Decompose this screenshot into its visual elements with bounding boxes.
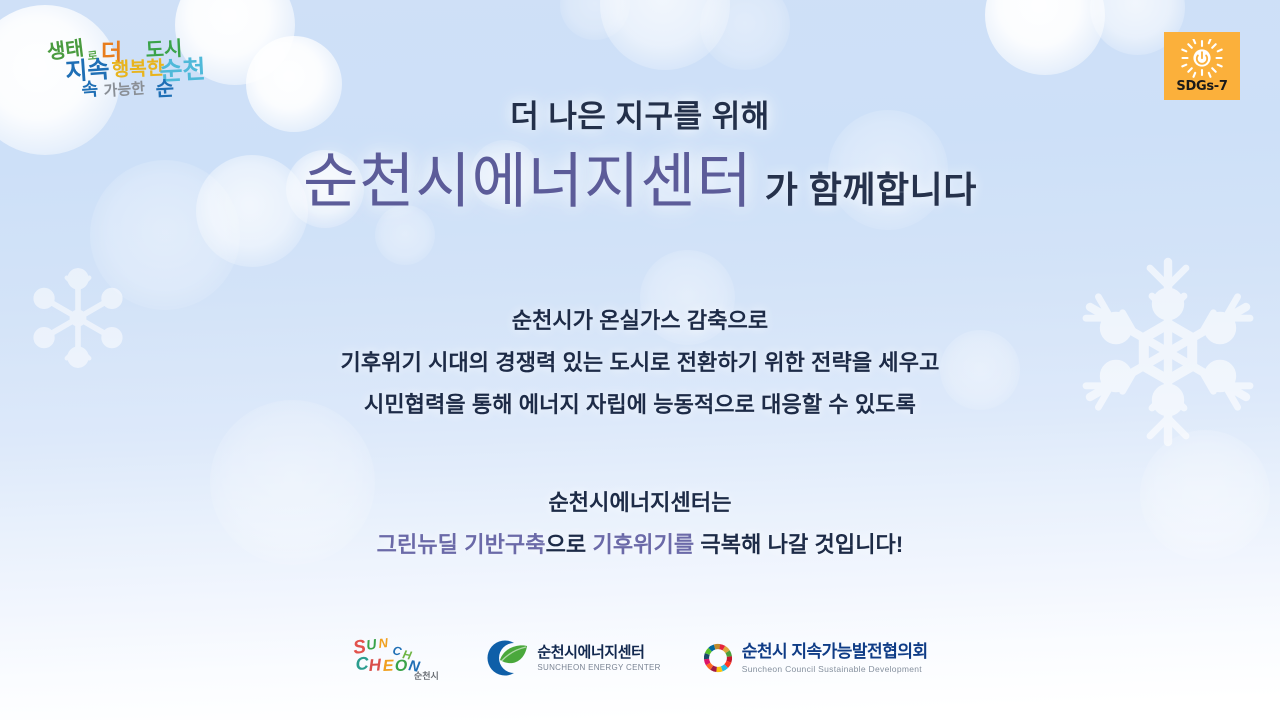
closing-accent-one: 그린뉴딜 기반구축 — [377, 532, 546, 557]
paragraph-two-line-1: 순천시에너지센터는 — [0, 482, 1280, 524]
svg-text:O: O — [395, 658, 409, 675]
closing-text-one: 으로 — [546, 532, 593, 557]
sdg-badge-label: SDGs-7 — [1176, 80, 1227, 93]
svg-text:N: N — [378, 635, 390, 651]
headline-suffix: 가 함께합니다 — [765, 169, 977, 210]
svg-text:E: E — [383, 658, 396, 675]
paragraph-one-line-1: 순천시가 온실가스 감축으로 — [0, 300, 1280, 342]
bokeh-circle — [600, 0, 730, 70]
suncheon-sustainable-development-council-logo: 순천시 지속가능발전협의회 Suncheon Council Sustainab… — [701, 641, 928, 675]
council-logo-en: Suncheon Council Sustainable Development — [742, 664, 928, 674]
paragraph-spacer — [0, 426, 1280, 482]
headline-line-1: 더 나은 지구를 위해 — [0, 98, 1280, 137]
body-copy-block: 순천시가 온실가스 감축으로 기후위기 시대의 경쟁력 있는 도시로 전환하기 … — [0, 300, 1280, 566]
paragraph-one: 순천시가 온실가스 감축으로 기후위기 시대의 경쟁력 있는 도시로 전환하기 … — [0, 300, 1280, 426]
svg-text:U: U — [366, 636, 379, 653]
bokeh-circle — [700, 0, 790, 70]
svg-text:속: 속 — [81, 79, 99, 100]
footer-logo-row: S U N C H C H E O N 순천시 — [0, 634, 1280, 682]
svg-text:순천시: 순천시 — [414, 671, 439, 681]
paragraph-one-line-3: 시민협력을 통해 에너지 자립에 능동적으로 대응할 수 있도록 — [0, 384, 1280, 426]
headline-block: 더 나은 지구를 위해 순천시에너지센터가 함께합니다 — [0, 98, 1280, 214]
energy-center-logo-text: 순천시에너지센터 SUNCHEON ENERGY CENTER — [537, 644, 660, 673]
paragraph-one-line-2: 기후위기 시대의 경쟁력 있는 도시로 전환하기 위한 전략을 세우고 — [0, 342, 1280, 384]
energy-center-logo-en: SUNCHEON ENERGY CENTER — [537, 663, 660, 673]
suncheon-energy-center-logo: 순천시에너지센터 SUNCHEON ENERGY CENTER — [484, 638, 660, 678]
bokeh-circle — [560, 0, 630, 40]
energy-center-brand-name: 순천시에너지센터 — [303, 149, 753, 215]
council-logo-kr: 순천시 지속가능발전협의회 — [742, 642, 928, 662]
paragraph-two: 순천시에너지센터는 그린뉴딜 기반구축으로 기후위기를 극복해 나갈 것입니다! — [0, 482, 1280, 566]
suncheon-city-slogan-logo: 생태 로 더 도시 지속 행복한 순천 속 가능한 순 — [40, 34, 220, 102]
closing-text-two: 극복해 나갈 것입니다! — [694, 532, 903, 557]
council-logo-text: 순천시 지속가능발전협의회 Suncheon Council Sustainab… — [742, 642, 928, 674]
suncheon-city-logo: S U N C H C H E O N 순천시 — [352, 634, 444, 682]
bokeh-circle — [985, 0, 1105, 75]
sun-power-icon — [1180, 39, 1224, 79]
energy-center-logo-kr: 순천시에너지센터 — [537, 644, 660, 661]
paragraph-two-line-2: 그린뉴딜 기반구축으로 기후위기를 극복해 나갈 것입니다! — [0, 524, 1280, 566]
headline-line-2: 순천시에너지센터가 함께합니다 — [0, 151, 1280, 214]
svg-text:행복한: 행복한 — [111, 57, 165, 81]
svg-text:가능한: 가능한 — [103, 80, 146, 100]
poster-canvas: 생태 로 더 도시 지속 행복한 순천 속 가능한 순 — [0, 0, 1280, 720]
sdg-7-badge: SDGs-7 — [1164, 32, 1240, 100]
svg-text:H: H — [369, 655, 383, 675]
closing-accent-two: 기후위기를 — [593, 532, 695, 557]
